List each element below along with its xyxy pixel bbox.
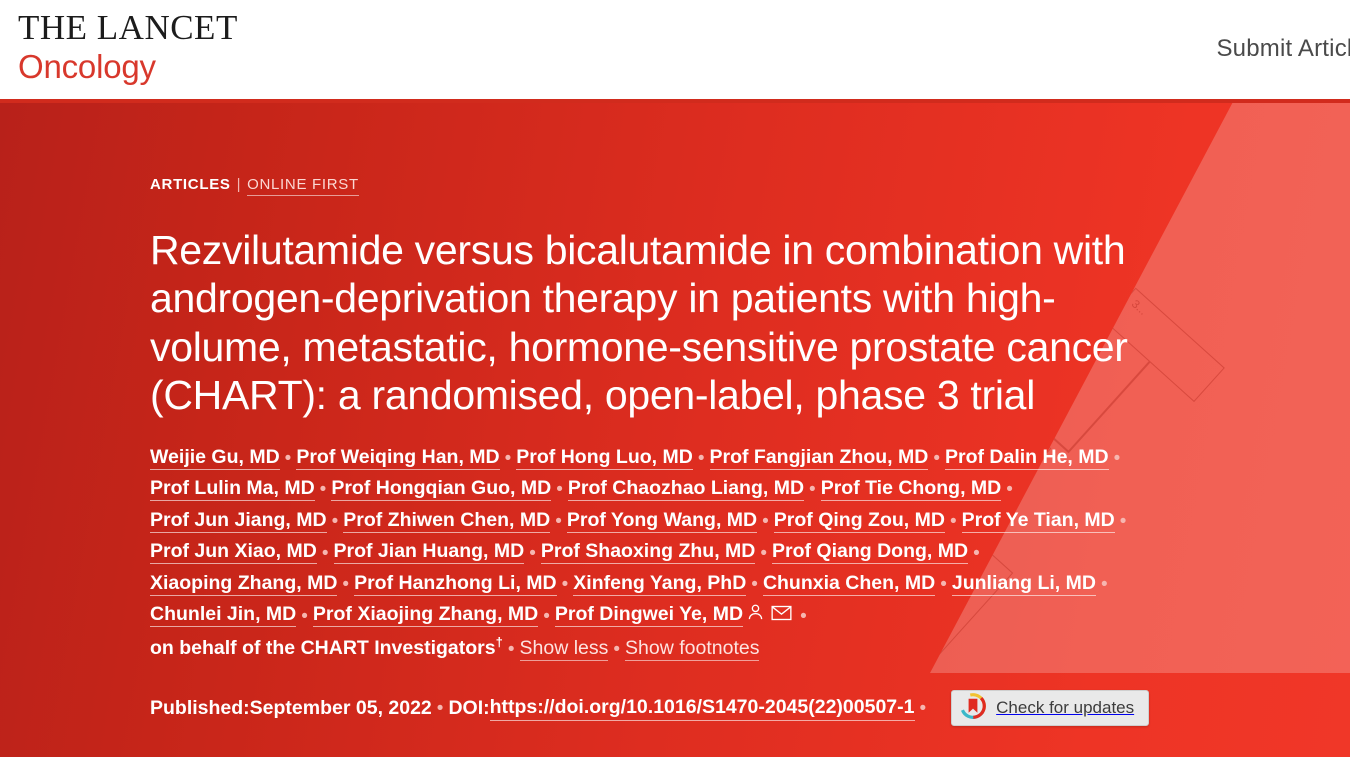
- author-separator: [332, 512, 339, 531]
- author-separator: [751, 575, 758, 594]
- author-link[interactable]: Prof Weiqing Han, MD: [296, 446, 499, 470]
- author-link[interactable]: Prof Hong Luo, MD: [516, 446, 693, 470]
- corresponding-author-link[interactable]: Prof Dingwei Ye, MD: [555, 603, 743, 627]
- author-separator: [505, 449, 512, 468]
- author-item: Prof Jian Huang, MD: [334, 544, 525, 561]
- author-link[interactable]: Prof Hanzhong Li, MD: [354, 572, 557, 596]
- author-separator: [698, 449, 705, 468]
- author-link[interactable]: Prof Zhiwen Chen, MD: [343, 509, 550, 533]
- author-link[interactable]: Prof Jun Jiang, MD: [150, 509, 327, 533]
- crossmark-logo-icon: [960, 693, 986, 724]
- author-item: Prof Hong Luo, MD: [516, 450, 693, 467]
- author-item: Chunxia Chen, MD: [763, 576, 935, 593]
- author-link[interactable]: Prof Jun Xiao, MD: [150, 540, 317, 564]
- kicker-section-label[interactable]: ARTICLES: [150, 176, 231, 193]
- article-kicker: ARTICLES|ONLINE FIRST: [150, 177, 1140, 192]
- group-attribution-text: on behalf of the CHART Investigators: [150, 637, 496, 659]
- author-separator: [508, 640, 515, 659]
- author-separator: [762, 512, 769, 531]
- author-item: Prof Hongqian Guo, MD: [331, 481, 551, 498]
- author-item: Prof Fangjian Zhou, MD: [710, 450, 929, 467]
- crossmark-label: Check for updates: [996, 698, 1134, 718]
- author-item: Prof Zhiwen Chen, MD: [343, 513, 550, 530]
- author-item: Prof Weiqing Han, MD: [296, 450, 499, 467]
- kicker-online-first-link[interactable]: ONLINE FIRST: [247, 176, 359, 196]
- article-banner-page: THE LANCET Oncology Submit Article 3... …: [0, 0, 1350, 760]
- doi-link[interactable]: https://doi.org/10.1016/S1470-2045(22)00…: [490, 696, 915, 721]
- author-separator: [285, 449, 292, 468]
- author-item: Prof Dalin He, MD: [945, 450, 1109, 467]
- author-item: Prof Hanzhong Li, MD: [354, 576, 557, 593]
- author-link[interactable]: Prof Chaozhao Liang, MD: [568, 477, 804, 501]
- author-link[interactable]: Prof Qiang Dong, MD: [772, 540, 968, 564]
- published-label: Published:: [150, 697, 250, 720]
- author-separator: [800, 607, 807, 626]
- author-link[interactable]: Xinfeng Yang, PhD: [573, 572, 746, 596]
- author-item: Prof Chaozhao Liang, MD: [568, 481, 804, 498]
- author-separator: [950, 512, 957, 531]
- author-separator: [973, 544, 980, 563]
- author-link[interactable]: Prof Jian Huang, MD: [334, 540, 525, 564]
- author-link[interactable]: Prof Xiaojing Zhang, MD: [313, 603, 538, 627]
- banner-content: ARTICLES|ONLINE FIRST Rezvilutamide vers…: [0, 103, 1140, 726]
- author-separator: [301, 607, 308, 626]
- author-separator: [529, 544, 536, 563]
- author-link[interactable]: Prof Lulin Ma, MD: [150, 477, 315, 501]
- author-link[interactable]: Prof Tie Chong, MD: [821, 477, 1002, 501]
- group-attribution: on behalf of the CHART Investigators†: [150, 637, 503, 659]
- doi-label: DOI:: [448, 697, 489, 720]
- author-link[interactable]: Prof Dalin He, MD: [945, 446, 1109, 470]
- journal-logo[interactable]: THE LANCET Oncology: [0, 0, 238, 86]
- author-separator: [1101, 575, 1108, 594]
- author-separator: [933, 449, 940, 468]
- author-separator: [342, 575, 349, 594]
- published-date: September 05, 2022: [250, 697, 432, 720]
- author-item: Weijie Gu, MD: [150, 450, 280, 467]
- author-item: Prof Lulin Ma, MD: [150, 481, 315, 498]
- author-link[interactable]: Prof Yong Wang, MD: [567, 509, 757, 533]
- article-title: Rezvilutamide versus bicalutamide in com…: [150, 226, 1140, 420]
- author-item: Junliang Li, MD: [952, 576, 1096, 593]
- author-separator: [556, 480, 563, 499]
- author-list: Weijie Gu, MDProf Weiqing Han, MDProf Ho…: [150, 442, 1140, 665]
- author-separator: [1006, 480, 1013, 499]
- author-separator: [322, 544, 329, 563]
- author-separator: [555, 512, 562, 531]
- show-less-link[interactable]: Show less: [520, 637, 609, 661]
- author-separator: [613, 640, 620, 659]
- author-item: Prof Xiaojing Zhang, MD: [313, 607, 538, 624]
- person-icon[interactable]: [746, 602, 765, 631]
- author-link[interactable]: Junliang Li, MD: [952, 572, 1096, 596]
- author-item: Prof Jun Xiao, MD: [150, 544, 317, 561]
- site-header: THE LANCET Oncology Submit Article: [0, 0, 1350, 103]
- author-link[interactable]: Chunxia Chen, MD: [763, 572, 935, 596]
- kicker-separator: |: [237, 176, 242, 193]
- author-item: Xinfeng Yang, PhD: [573, 576, 746, 593]
- author-separator: [809, 480, 816, 499]
- author-item: Xiaoping Zhang, MD: [150, 576, 337, 593]
- author-link[interactable]: Prof Fangjian Zhou, MD: [710, 446, 929, 470]
- author-item: Chunlei Jin, MD: [150, 607, 296, 624]
- show-footnotes-link[interactable]: Show footnotes: [625, 637, 759, 661]
- author-link[interactable]: Prof Ye Tian, MD: [962, 509, 1115, 533]
- article-header-banner: 3... 218 ongoing at inte… progression-fr…: [0, 103, 1350, 757]
- author-item: Prof Yong Wang, MD: [567, 513, 757, 530]
- author-separator: [562, 575, 569, 594]
- pub-separator: [437, 699, 444, 718]
- logo-oncology: Oncology: [18, 48, 238, 86]
- author-separator: [1120, 512, 1127, 531]
- author-link[interactable]: Weijie Gu, MD: [150, 446, 280, 470]
- crossmark-check-for-updates-button[interactable]: Check for updates: [951, 690, 1149, 726]
- author-separator: [320, 480, 327, 499]
- author-separator: [760, 544, 767, 563]
- author-separator: [940, 575, 947, 594]
- pub-separator: [920, 699, 927, 718]
- author-item: Prof Qing Zou, MD: [774, 513, 945, 530]
- author-link[interactable]: Prof Qing Zou, MD: [774, 509, 945, 533]
- publication-info-row: Published: September 05, 2022 DOI: https…: [150, 690, 1140, 726]
- envelope-icon[interactable]: [771, 604, 792, 631]
- author-link[interactable]: Prof Hongqian Guo, MD: [331, 477, 551, 501]
- submit-article-link[interactable]: Submit Article: [1216, 35, 1350, 62]
- author-link[interactable]: Prof Shaoxing Zhu, MD: [541, 540, 756, 564]
- footnote-marker[interactable]: †: [496, 634, 503, 649]
- author-separator: [1114, 449, 1121, 468]
- author-item: Prof Shaoxing Zhu, MD: [541, 544, 756, 561]
- author-item: Prof Qiang Dong, MD: [772, 544, 968, 561]
- author-item: Prof Ye Tian, MD: [962, 513, 1115, 530]
- author-separator: [543, 607, 550, 626]
- author-item: Prof Jun Jiang, MD: [150, 513, 327, 530]
- author-link[interactable]: Chunlei Jin, MD: [150, 603, 296, 627]
- author-item: Prof Tie Chong, MD: [821, 481, 1002, 498]
- author-link[interactable]: Xiaoping Zhang, MD: [150, 572, 337, 596]
- header-nav: Submit Article: [1216, 0, 1350, 63]
- logo-the-lancet: THE LANCET: [18, 8, 238, 47]
